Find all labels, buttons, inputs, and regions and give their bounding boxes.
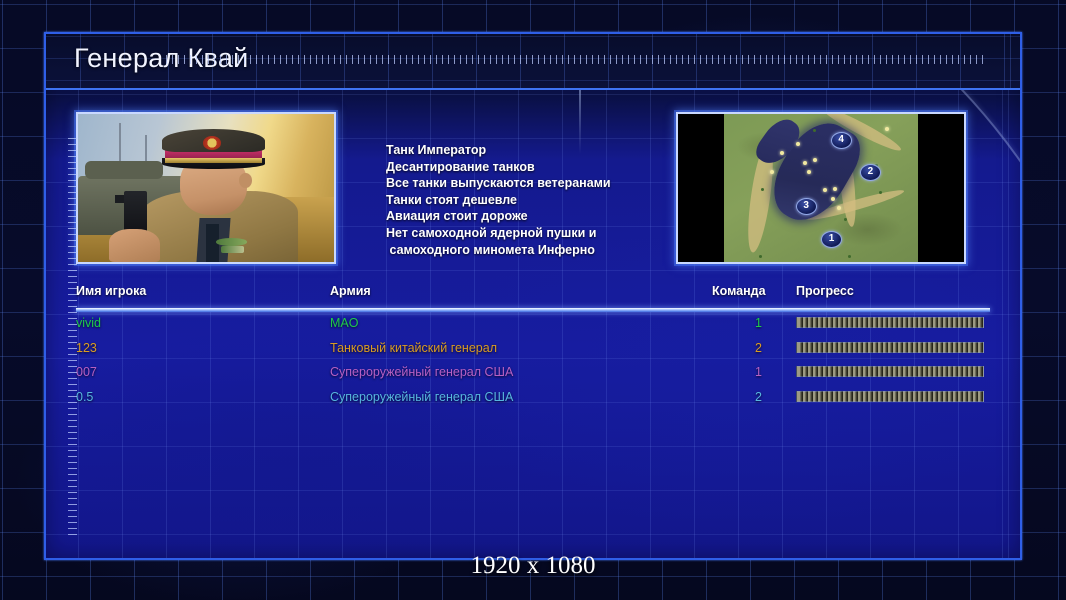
bonus-line: Танки стоят дешевле	[386, 192, 716, 209]
portrait-wing-badge-icon	[216, 238, 247, 245]
minimap-resource-icon	[831, 197, 835, 201]
minimap-letterbox-right	[918, 114, 964, 262]
bonus-line: Десантирование танков	[386, 159, 716, 176]
table-row[interactable]: vivid MAO 1	[76, 312, 990, 337]
minimap-start-position-3[interactable]: 3	[796, 198, 817, 215]
cell-player-name: 0.5	[76, 390, 93, 404]
general-portrait	[76, 112, 336, 264]
cell-army: Танковый китайский генерал	[330, 341, 497, 355]
cell-progress-bar	[796, 391, 984, 402]
general-bonus-list: Танк Император Десантирование танков Все…	[386, 142, 716, 258]
column-header-army: Армия	[330, 284, 371, 298]
cell-player-name: 007	[76, 365, 97, 379]
table-row[interactable]: 0.5 Супероружейный генерал США 2	[76, 386, 990, 411]
bonus-line: Нет самоходной ядерной пушки и	[386, 225, 716, 242]
cell-team: 2	[726, 390, 762, 404]
cell-player-name: vivid	[76, 316, 101, 330]
minimap-tree-icon	[761, 188, 764, 191]
main-panel: Генерал Квай	[44, 32, 1022, 560]
cell-army: MAO	[330, 316, 358, 330]
minimap-resource-icon	[823, 188, 827, 192]
portrait-ear	[239, 173, 252, 188]
minimap-resource-icon	[837, 206, 841, 210]
portrait-cap-trim	[165, 158, 262, 162]
ruler-top	[166, 55, 986, 64]
resolution-caption: 1920 x 1080	[0, 552, 1066, 580]
minimap-resource-icon	[885, 127, 889, 131]
minimap-tree-icon	[759, 255, 762, 258]
column-header-team: Команда	[712, 284, 766, 298]
game-lobby-screen: Генерал Квай	[0, 0, 1066, 600]
portrait-hand	[109, 229, 160, 262]
portrait-cap-star-icon	[203, 136, 221, 149]
cell-player-name: 123	[76, 341, 97, 355]
minimap-tree-icon	[848, 255, 851, 258]
table-row[interactable]: 123 Танковый китайский генерал 2	[76, 337, 990, 362]
cell-army: Супероружейный генерал США	[330, 365, 513, 379]
column-header-player-name: Имя игрока	[76, 284, 146, 298]
bonus-line: Авиация стоит дороже	[386, 208, 716, 225]
column-header-progress: Прогресс	[796, 284, 854, 298]
minimap-preview[interactable]: 1 2 3 4	[676, 112, 966, 264]
minimap-resource-icon	[796, 142, 800, 146]
cell-progress-bar	[796, 317, 984, 328]
bonus-line: Все танки выпускаются ветеранами	[386, 175, 716, 192]
minimap-start-position-4[interactable]: 4	[831, 132, 852, 149]
minimap-start-position-2[interactable]: 2	[860, 164, 881, 181]
bonus-line: самоходного миномета Инферно	[386, 242, 716, 259]
player-table: Имя игрока Армия Команда Прогресс vivid …	[76, 284, 990, 410]
minimap-start-position-1[interactable]: 1	[821, 231, 842, 248]
ruler-left	[68, 138, 77, 538]
cell-army: Супероружейный генерал США	[330, 390, 513, 404]
portrait-pistol-icon	[124, 191, 147, 232]
cell-team: 1	[726, 365, 762, 379]
cell-team: 1	[726, 316, 762, 330]
minimap-resource-icon	[770, 170, 774, 174]
cell-progress-bar	[796, 366, 984, 377]
content-area: Танк Император Десантирование танков Все…	[46, 88, 1020, 558]
bonus-line: Танк Император	[386, 142, 716, 159]
minimap-resource-icon	[833, 187, 837, 191]
cell-team: 2	[726, 341, 762, 355]
minimap-letterbox-left	[678, 114, 724, 262]
portrait-medal-icon	[221, 246, 244, 253]
table-header-row: Имя игрока Армия Команда Прогресс	[76, 284, 990, 306]
minimap-terrain: 1 2 3 4	[724, 114, 918, 262]
table-row[interactable]: 007 Супероружейный генерал США 1	[76, 361, 990, 386]
cell-progress-bar	[796, 342, 984, 353]
